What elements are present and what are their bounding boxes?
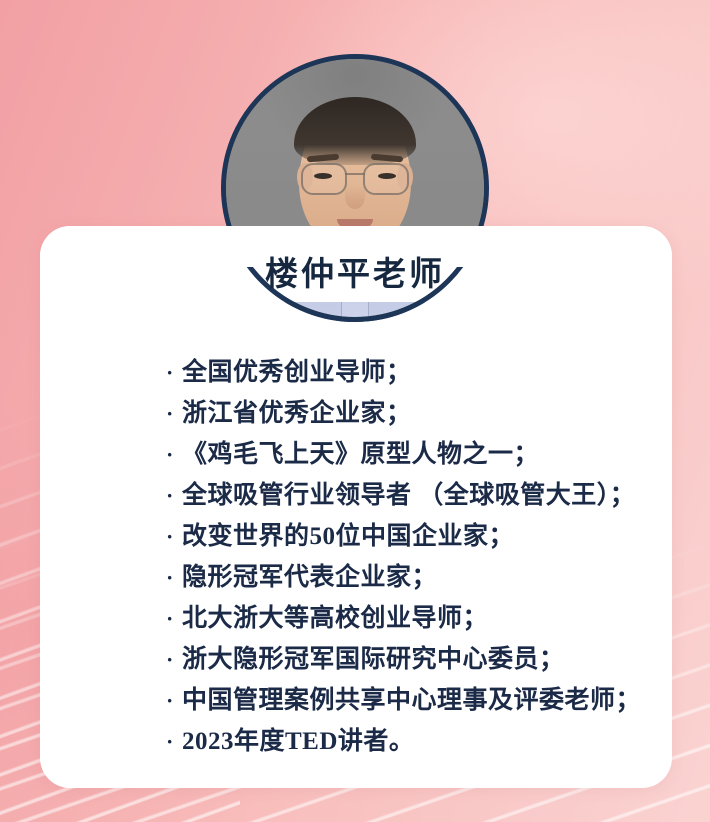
bullet-marker: · [166, 639, 182, 680]
glasses-lens-left [301, 163, 347, 195]
list-item: · 全国优秀创业导师； [166, 352, 636, 393]
bullet-marker: · [166, 516, 182, 557]
bullet-marker: · [166, 557, 182, 598]
nose-shape [345, 185, 365, 209]
list-item: · 2023年度TED讲者。 [166, 721, 636, 762]
list-item-label: 北大浙大等高校创业导师； [182, 598, 488, 639]
list-item-label: 全国优秀创业导师； [182, 352, 412, 393]
list-item-label: 浙大隐形冠军国际研究中心委员； [182, 639, 565, 680]
list-item-label: 中国管理案例共享中心理事及评委老师； [182, 680, 641, 721]
list-item-label: 改变世界的50位中国企业家； [182, 516, 514, 557]
list-item: · 《鸡毛飞上天》原型人物之一； [166, 434, 636, 475]
list-item: · 浙江省优秀企业家； [166, 393, 636, 434]
list-item: · 北大浙大等高校创业导师； [166, 598, 636, 639]
bullet-marker: · [166, 721, 182, 762]
speaker-name: 楼仲平老师 [0, 247, 710, 295]
list-item-label: 2023年度TED讲者。 [182, 721, 414, 762]
glasses-lens-right [363, 163, 409, 195]
list-item-label: 浙江省优秀企业家； [182, 393, 412, 434]
bullet-marker: · [166, 393, 182, 434]
bullet-marker: · [166, 598, 182, 639]
bullet-marker: · [166, 434, 182, 475]
glasses-bridge [345, 173, 365, 175]
list-item: · 全球吸管行业领导者 （全球吸管大王）； [166, 475, 636, 516]
list-item-label: 隐形冠军代表企业家； [182, 557, 437, 598]
list-item: · 浙大隐形冠军国际研究中心委员； [166, 639, 636, 680]
speaker-profile-poster: 楼仲平老师 · 全国优秀创业导师； · 浙江省优秀企业家； · 《鸡毛飞上天》原… [0, 0, 710, 822]
bullet-marker: · [166, 475, 182, 516]
credentials-list: · 全国优秀创业导师； · 浙江省优秀企业家； · 《鸡毛飞上天》原型人物之一；… [166, 352, 636, 762]
bullet-marker: · [166, 680, 182, 721]
list-item: · 改变世界的50位中国企业家； [166, 516, 636, 557]
list-item-label: 《鸡毛飞上天》原型人物之一； [182, 434, 539, 475]
eye-right-shape [378, 173, 396, 179]
eye-left-shape [314, 173, 332, 179]
list-item: · 中国管理案例共享中心理事及评委老师； [166, 680, 636, 721]
list-item: · 隐形冠军代表企业家； [166, 557, 636, 598]
bullet-marker: · [166, 352, 182, 393]
hair-shape [294, 97, 416, 165]
list-item-label: 全球吸管行业领导者 （全球吸管大王）； [182, 475, 635, 516]
